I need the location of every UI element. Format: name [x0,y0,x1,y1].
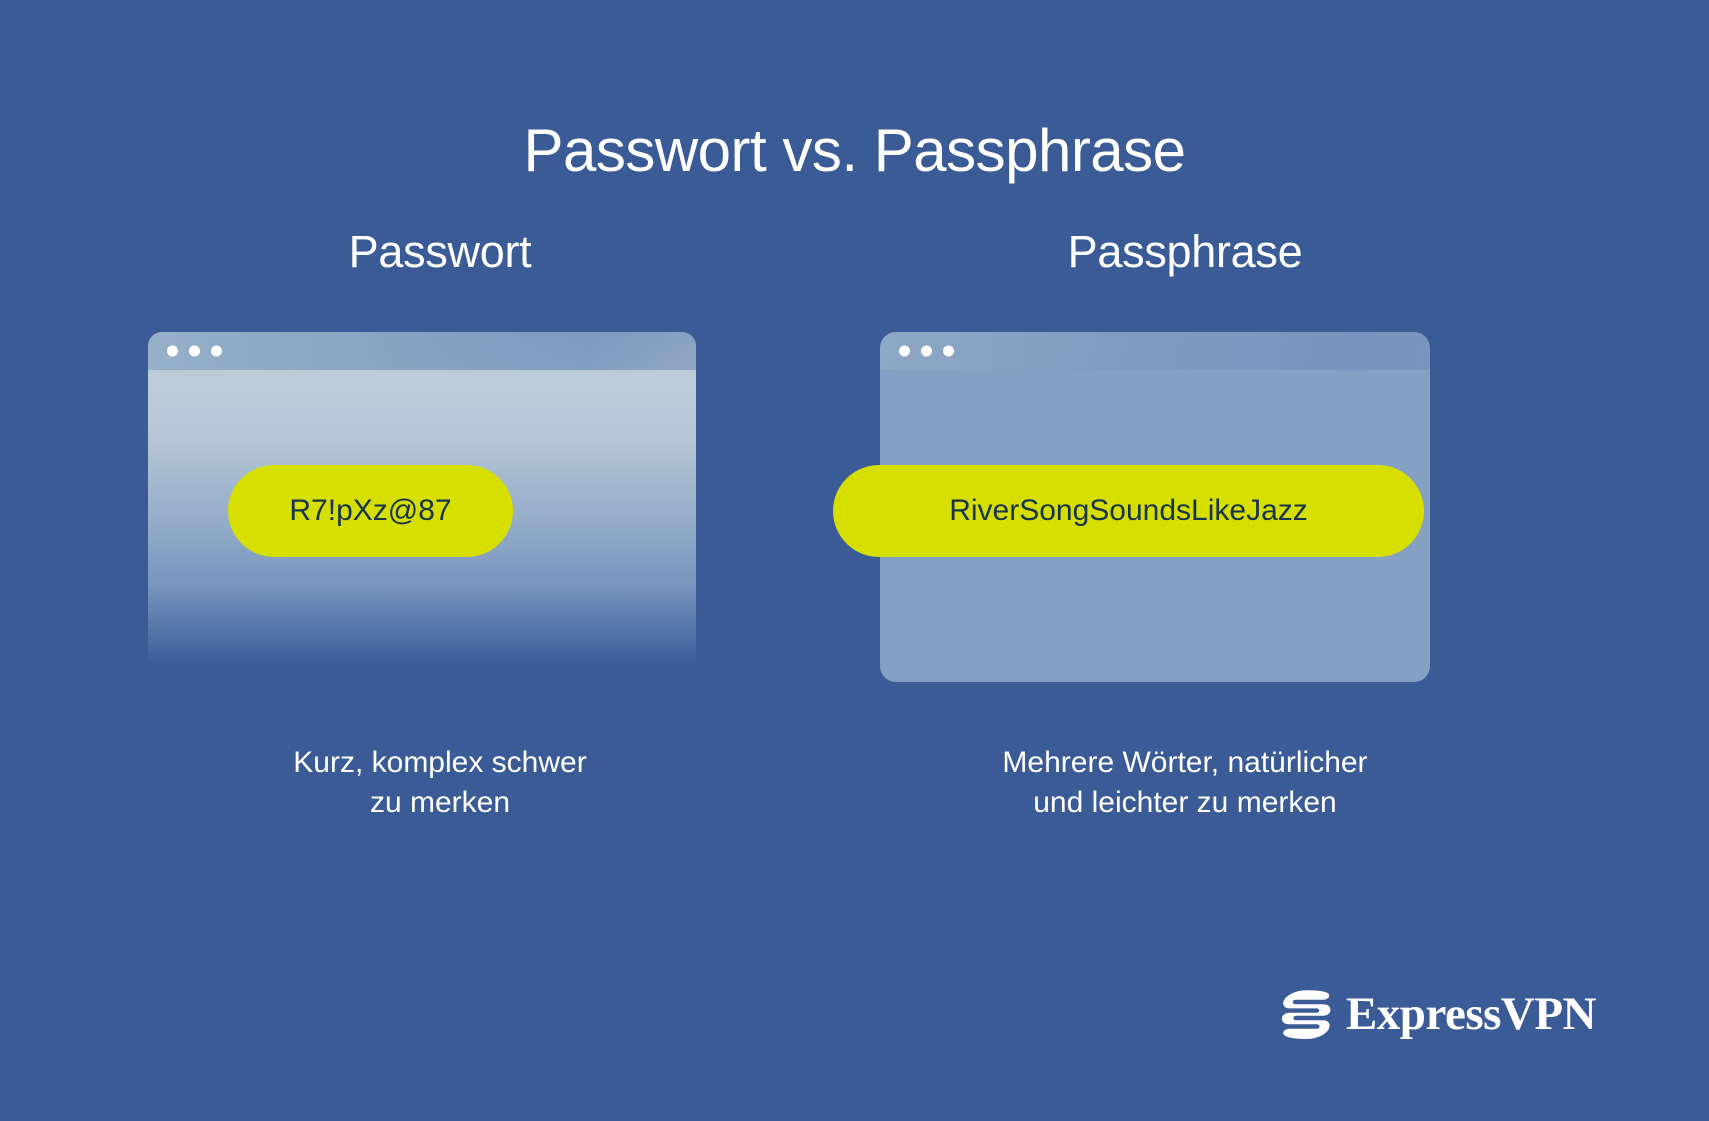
expressvpn-logo: ExpressVPN [1280,989,1596,1039]
expressvpn-e-logo-icon [1280,989,1332,1039]
window-dot-maximize-icon[interactable] [943,346,954,357]
caption-line: Kurz, komplex schwer [120,743,760,783]
window-controls-passwort [167,346,222,357]
browser-window-passwort: R7!pXz@87 [120,332,760,687]
window-dot-close-icon[interactable] [899,346,910,357]
column-heading-passphrase: Passphrase [845,225,1525,279]
window-dot-maximize-icon[interactable] [211,346,222,357]
page-title: Passwort vs. Passphrase [0,118,1709,184]
window-titlebar-passwort [148,332,696,370]
window-dot-minimize-icon[interactable] [921,346,932,357]
window-controls-passphrase [899,346,954,357]
column-passwort: Passwort R7!pXz@87 Kurz, komplex schwer … [120,225,760,823]
infographic-canvas: Passwort vs. Passphrase Passwort R7!pXz@… [0,0,1709,1121]
browser-window-passphrase: RiverSongSoundsLikeJazz [845,332,1525,687]
password-value-pill[interactable]: R7!pXz@87 [228,465,513,557]
caption-passphrase: Mehrere Wörter, natürlicher und leichter… [845,743,1525,823]
window-titlebar-passphrase [880,332,1430,370]
caption-line: zu merken [120,783,760,823]
column-heading-passwort: Passwort [120,225,760,279]
column-passphrase: Passphrase RiverSongSoundsLikeJazz Mehre… [845,225,1525,823]
caption-line: und leichter zu merken [845,783,1525,823]
caption-line: Mehrere Wörter, natürlicher [845,743,1525,783]
expressvpn-wordmark: ExpressVPN [1346,991,1596,1038]
passphrase-value-pill[interactable]: RiverSongSoundsLikeJazz [833,465,1424,557]
window-dot-close-icon[interactable] [167,346,178,357]
window-dot-minimize-icon[interactable] [189,346,200,357]
caption-passwort: Kurz, komplex schwer zu merken [120,743,760,823]
